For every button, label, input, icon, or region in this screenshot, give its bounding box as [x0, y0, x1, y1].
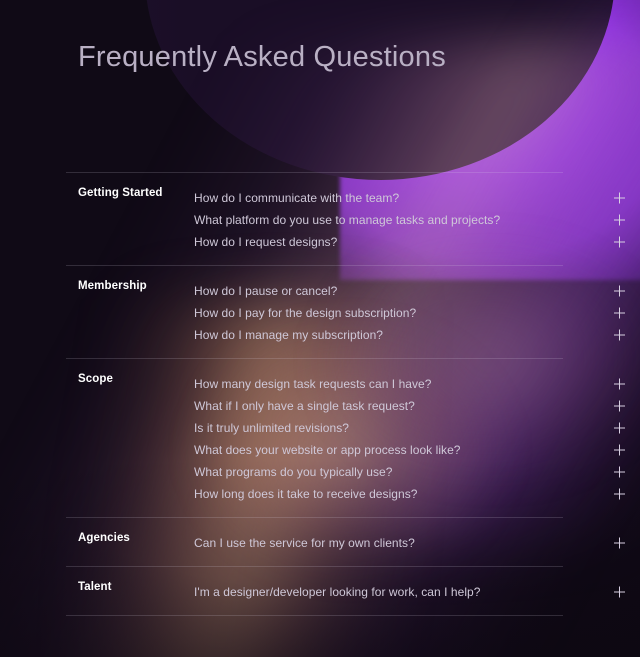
faq-question-row[interactable]: Is it truly unlimited revisions?	[194, 417, 563, 439]
faq-question-text: What if I only have a single task reques…	[194, 395, 415, 417]
plus-icon[interactable]	[614, 193, 625, 204]
plus-icon[interactable]	[614, 489, 625, 500]
dark-ellipse-decoration	[145, 0, 615, 180]
faq-question-text: How do I request designs?	[194, 231, 337, 253]
faq-question-row[interactable]: How long does it take to receive designs…	[194, 483, 563, 505]
faq-question-text: What platform do you use to manage tasks…	[194, 209, 500, 231]
plus-icon[interactable]	[614, 330, 625, 341]
faq-question-text: How long does it take to receive designs…	[194, 483, 418, 505]
plus-icon[interactable]	[614, 401, 625, 412]
faq-category-label: Agencies	[78, 532, 130, 544]
plus-icon[interactable]	[614, 423, 625, 434]
faq-section-agencies: Agencies Can I use the service for my ow…	[66, 517, 563, 566]
plus-icon[interactable]	[614, 215, 625, 226]
faq-section-talent: Talent I'm a designer/developer looking …	[66, 566, 563, 616]
faq-question-row[interactable]: What platform do you use to manage tasks…	[194, 209, 563, 231]
faq-question-row[interactable]: How do I pause or cancel?	[194, 280, 563, 302]
faq-question-text: How do I manage my subscription?	[194, 324, 383, 346]
faq-question-row[interactable]: How do I manage my subscription?	[194, 324, 563, 346]
faq-category-label: Talent	[78, 581, 112, 593]
faq-page: Frequently Asked Questions Getting Start…	[0, 0, 640, 657]
faq-question-column: How do I pause or cancel? How do I pay f…	[194, 280, 563, 346]
faq-question-row[interactable]: Can I use the service for my own clients…	[194, 532, 563, 554]
faq-question-row[interactable]: What does your website or app process lo…	[194, 439, 563, 461]
faq-question-row[interactable]: How do I pay for the design subscription…	[194, 302, 563, 324]
faq-question-column: How many design task requests can I have…	[194, 373, 563, 505]
plus-icon[interactable]	[614, 587, 625, 598]
plus-icon[interactable]	[614, 379, 625, 390]
faq-question-column: How do I communicate with the team? What…	[194, 187, 563, 253]
faq-question-text: How do I communicate with the team?	[194, 187, 399, 209]
plus-icon[interactable]	[614, 237, 625, 248]
faq-question-text: What programs do you typically use?	[194, 461, 393, 483]
faq-category-label: Membership	[78, 280, 147, 292]
faq-question-row[interactable]: I'm a designer/developer looking for wor…	[194, 581, 563, 603]
faq-question-text: Is it truly unlimited revisions?	[194, 417, 349, 439]
page-title: Frequently Asked Questions	[78, 41, 446, 74]
faq-question-row[interactable]: How do I request designs?	[194, 231, 563, 253]
plus-icon[interactable]	[614, 445, 625, 456]
faq-question-text: How do I pay for the design subscription…	[194, 302, 416, 324]
faq-section-getting-started: Getting Started How do I communicate wit…	[66, 172, 563, 265]
faq-question-row[interactable]: How many design task requests can I have…	[194, 373, 563, 395]
plus-icon[interactable]	[614, 286, 625, 297]
faq-category-label: Scope	[78, 373, 113, 385]
faq-list: Getting Started How do I communicate wit…	[66, 172, 563, 616]
faq-question-text: What does your website or app process lo…	[194, 439, 461, 461]
plus-icon[interactable]	[614, 467, 625, 478]
plus-icon[interactable]	[614, 538, 625, 549]
plus-icon[interactable]	[614, 308, 625, 319]
faq-section-scope: Scope How many design task requests can …	[66, 358, 563, 517]
faq-question-column: Can I use the service for my own clients…	[194, 532, 563, 554]
faq-question-column: I'm a designer/developer looking for wor…	[194, 581, 563, 603]
faq-question-row[interactable]: How do I communicate with the team?	[194, 187, 563, 209]
faq-question-text: How do I pause or cancel?	[194, 280, 337, 302]
faq-question-row[interactable]: What programs do you typically use?	[194, 461, 563, 483]
faq-section-membership: Membership How do I pause or cancel? How…	[66, 265, 563, 358]
faq-question-text: How many design task requests can I have…	[194, 373, 432, 395]
faq-category-label: Getting Started	[78, 187, 163, 199]
faq-question-text: Can I use the service for my own clients…	[194, 532, 415, 554]
faq-question-text: I'm a designer/developer looking for wor…	[194, 581, 480, 603]
faq-question-row[interactable]: What if I only have a single task reques…	[194, 395, 563, 417]
